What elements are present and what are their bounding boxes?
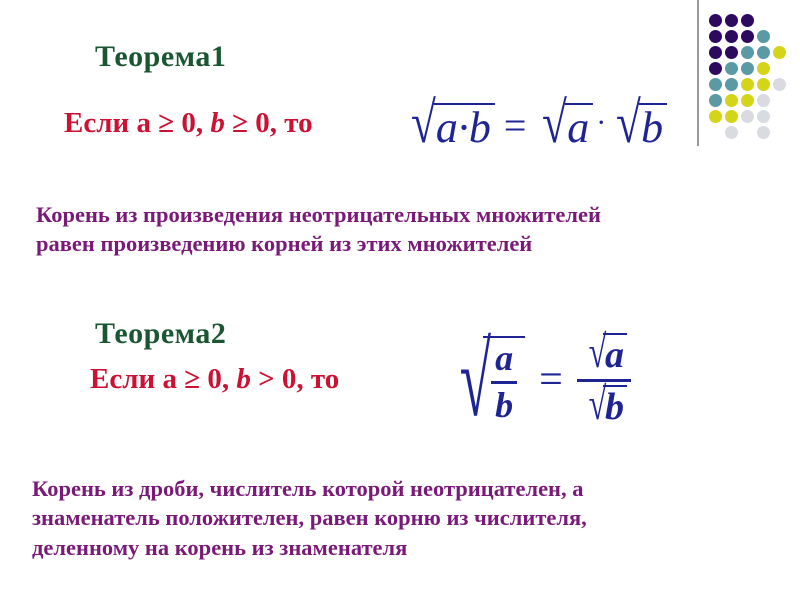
theorem1-variable-b: b [210,107,225,139]
equals-sign-1: = [495,103,536,148]
decor-dot-purple [725,14,738,27]
decor-dot-purple [709,14,722,27]
theorem2-explanation-line3: деленному на корень из знаменателя [32,533,780,562]
decor-dot-teal [757,46,770,59]
multiplication-dot: · [593,106,609,139]
theorem1-condition-mid: 0, [174,107,210,139]
decor-dot-teal [757,30,770,43]
decor-dot-yellow [725,94,738,107]
decor-dot-gray [773,78,786,91]
decor-dot-purple [725,46,738,59]
sqrt-b: √b [609,102,667,150]
decor-dot-teal [725,78,738,91]
decor-dot-gray [757,110,770,123]
decor-dot-gray [725,126,738,139]
theorem2-formula: √ab=√a√b [434,333,631,453]
decor-dot-teal [741,62,754,75]
theorem1-explanation-line1: Корень из произведения неотрицательных м… [36,200,776,229]
decor-dot-purple [741,30,754,43]
radical-sign-icon: √ [460,339,491,422]
decor-dot-yellow [741,94,754,107]
theorem2-condition-mid: 0, [200,363,236,395]
fraction-denominator-b: b [491,385,517,425]
theorem2-title: Теорема2 [95,317,226,351]
decor-dot-teal [709,94,722,107]
theorem1-ge-sign-1: ≥ [158,107,174,139]
slide-canvas: Теорема1 Если a ≥ 0, b ≥ 0, то √a·b=√a·√… [0,0,800,600]
decor-dot-gray [741,110,754,123]
decor-dot-yellow [757,78,770,91]
decor-dot-teal [725,62,738,75]
radicand-a: a [603,333,627,376]
theorem2-explanation: Корень из дроби, числитель которой неотр… [32,474,780,562]
sqrt-a-times-b: √a·b [404,102,495,150]
radicand-ab: a·b [434,103,495,150]
theorem2-ge-sign: ≥ [184,363,200,395]
decor-dot-purple [709,62,722,75]
dot-grid-motif [697,0,800,150]
radicand-a: a [565,103,593,150]
theorem1-title: Теорема1 [95,40,226,74]
sqrt-a: √a [535,102,593,150]
theorem1-explanation-line2: равен произведению корней из этих множит… [36,229,776,258]
decor-dot-yellow [741,78,754,91]
theorem1-condition-suffix: 0, то [248,107,313,139]
radical-sign-icon: √ [542,102,567,144]
radical-sign-icon: √ [616,102,641,144]
radicand-b: b [603,385,627,428]
fraction-numerator-sqrt-a: √a [577,333,631,378]
radical-sign-icon: √ [588,388,606,420]
theorem1-explanation: Корень из произведения неотрицательных м… [36,200,776,259]
theorem1-condition-prefix: Если a [64,107,158,139]
theorem2-variable-b: b [236,363,251,395]
decor-dot-yellow [725,110,738,123]
radical-sign-icon: √ [588,336,606,368]
theorem1-condition: Если a ≥ 0, b ≥ 0, то [64,107,313,140]
fraction-a-over-b: ab [491,340,517,425]
theorem2-condition: Если a ≥ 0, b > 0, то [90,363,339,396]
decor-dot-yellow [757,62,770,75]
theorem2-explanation-line1: Корень из дроби, числитель которой неотр… [32,474,780,503]
decor-dot-purple [741,14,754,27]
decor-dot-purple [709,46,722,59]
theorem1-formula: √a·b=√a·√b [404,100,667,150]
theorem2-condition-prefix: Если a [90,363,184,395]
theorem2-explanation-line2: знаменатель положителен, равен корню из … [32,503,780,532]
fraction-sqrt-a-over-sqrt-b: √a√b [577,333,631,428]
fraction-bar [491,381,517,384]
equals-sign-2: = [525,357,577,403]
theorem2-condition-suffix: 0, то [275,363,340,395]
fraction-numerator-a: a [491,340,517,380]
sqrt-of-fraction: √ab [434,336,525,425]
decor-dot-teal [709,78,722,91]
decor-dot-yellow [773,46,786,59]
fraction-denominator-sqrt-b: √b [577,383,631,428]
theorem1-ge-sign-2: ≥ [225,107,248,139]
theorem2-gt-sign: > [251,363,275,395]
decor-dot-purple [725,30,738,43]
decor-dot-yellow [709,110,722,123]
radicand-b: b [639,103,667,150]
decor-dot-purple [709,30,722,43]
radical-sign-icon: √ [411,102,436,144]
sqrt-b-small: √b [581,385,627,428]
decor-dot-gray [757,126,770,139]
vertical-divider-line [697,0,699,146]
decor-dot-teal [741,46,754,59]
sqrt-a-small: √a [581,333,627,376]
decor-dot-gray [757,94,770,107]
